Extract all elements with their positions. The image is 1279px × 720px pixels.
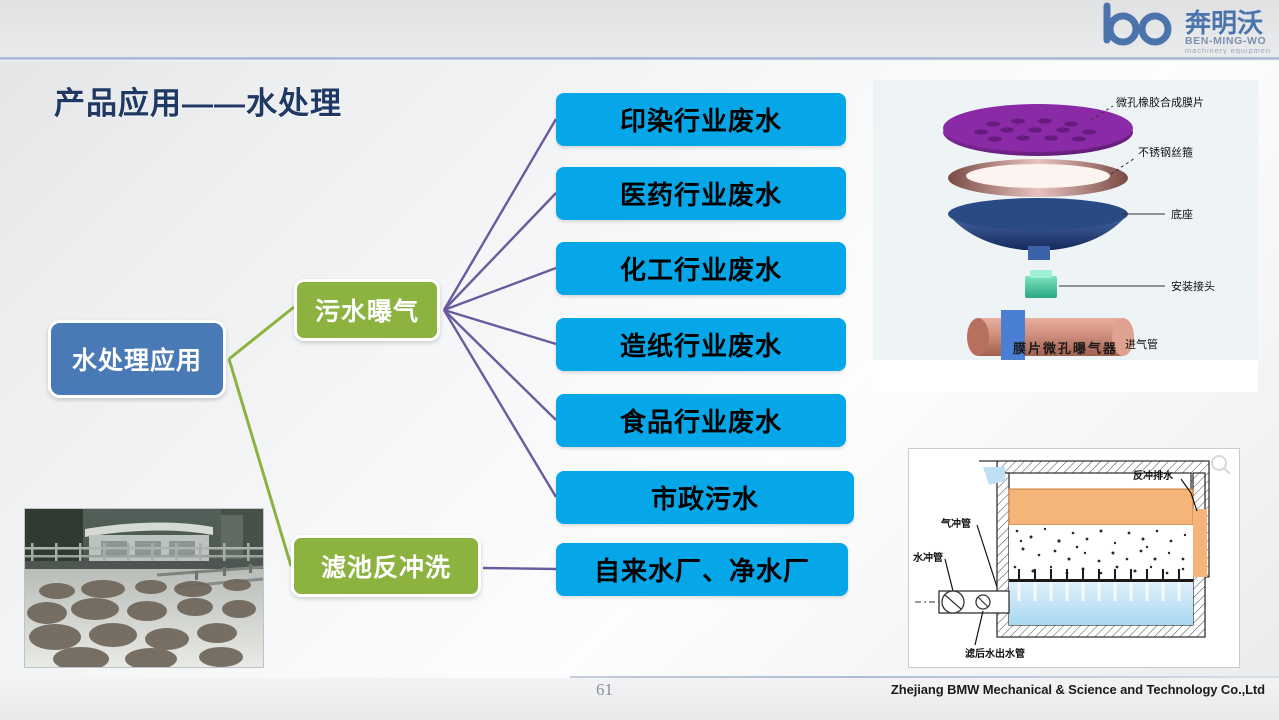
aerator-label-base: 底座 (1171, 206, 1193, 222)
filter-label-backwash-drain: 反冲排水 (1133, 467, 1173, 482)
mindmap-leaf-chemical[interactable]: 化工行业废水 (556, 242, 846, 295)
svg-text:machinery equipment: machinery equipment (1185, 46, 1271, 54)
header-divider-highlight (0, 60, 1279, 61)
aerator-label-membrane: 微孔橡胶合成膜片 (1116, 94, 1204, 110)
mindmap-branch-label: 滤池反冲洗 (321, 548, 451, 584)
aerator-label-connector: 安装接头 (1171, 278, 1215, 294)
aerator-diagram-caption: 膜片微孔曝气器 (873, 338, 1258, 357)
company-name: Zhejiang BMW Mechanical & Science and Te… (891, 682, 1265, 697)
slide: 奔明沃 BEN-MING-WO machinery equipment 产品应用… (0, 0, 1279, 720)
mindmap-branch-label: 污水曝气 (315, 292, 419, 328)
page-title: 产品应用——水处理 (54, 78, 342, 123)
mindmap-leaf-label: 食品行业废水 (620, 402, 782, 439)
filter-label-water-wash-pipe: 水冲管 (913, 549, 943, 564)
membrane-aerator-diagram: 微孔橡胶合成膜片 不锈钢丝箍 底座 安装接头 进气管 膜片微孔曝气器 (873, 80, 1258, 392)
mindmap-leaf-label: 印染行业废水 (620, 101, 782, 138)
footer-divider (570, 676, 1279, 678)
mindmap-leaf-label: 医药行业废水 (620, 175, 782, 212)
mindmap-leaf-printing-dyeing[interactable]: 印染行业废水 (556, 93, 846, 146)
filter-label-filtered-outlet-pipe: 滤后水出水管 (965, 645, 1025, 660)
card-bottom-strip (873, 360, 1258, 392)
mindmap-leaf-municipal[interactable]: 市政污水 (556, 471, 854, 524)
mindmap-leaf-label: 造纸行业废水 (620, 326, 782, 363)
header-band (0, 0, 1279, 58)
aerator-label-steel-ring: 不锈钢丝箍 (1138, 144, 1193, 160)
mindmap-leaf-food[interactable]: 食品行业废水 (556, 394, 846, 447)
mindmap-leaf-label: 自来水厂、净水厂 (594, 551, 810, 588)
mindmap-branch-backwash[interactable]: 滤池反冲洗 (291, 535, 481, 597)
filter-label-air-scour-pipe: 气冲管 (941, 515, 971, 530)
mindmap-root-label: 水处理应用 (72, 341, 202, 377)
mindmap-root-node[interactable]: 水处理应用 (48, 320, 226, 398)
mindmap-leaf-waterworks[interactable]: 自来水厂、净水厂 (556, 543, 848, 596)
mindmap-leaf-label: 市政污水 (651, 479, 759, 516)
company-logo: 奔明沃 BEN-MING-WO machinery equipment (1099, 2, 1271, 54)
mindmap-branch-aeration[interactable]: 污水曝气 (294, 279, 440, 341)
filter-backwash-diagram: 反冲排水 气冲管 水冲管 滤后水出水管 (908, 448, 1240, 668)
mindmap-leaf-papermaking[interactable]: 造纸行业废水 (556, 318, 846, 371)
mindmap-leaf-pharmaceutical[interactable]: 医药行业废水 (556, 167, 846, 220)
mindmap-leaf-label: 化工行业废水 (620, 250, 782, 287)
aeration-basin-photo (24, 508, 264, 668)
page-number: 61 (596, 680, 613, 700)
